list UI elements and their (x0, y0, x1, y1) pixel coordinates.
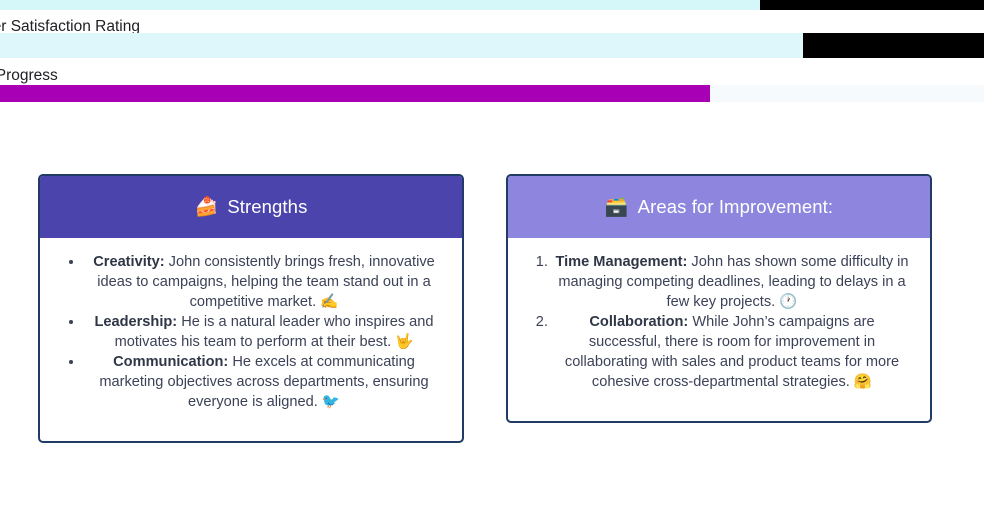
card-file-box-icon: 🗃️ (605, 198, 629, 217)
goal-progress-fill (0, 85, 710, 102)
list-item-term: Time Management: (555, 254, 687, 270)
list-item: Time Management: John has shown some dif… (552, 252, 912, 312)
satisfaction-rating-fill (0, 33, 803, 58)
list-item: Communication: He excels at communicatin… (84, 352, 444, 412)
performance-review-page: ner Satisfaction Rating l Progress 🍰 Str… (0, 0, 984, 505)
list-item-term: Collaboration: (589, 314, 688, 330)
strengths-card: 🍰 Strengths Creativity: John consistentl… (38, 174, 464, 443)
strengths-card-title: Strengths (227, 196, 307, 218)
areas-for-improvement-card-header: 🗃️ Areas for Improvement: (508, 176, 930, 238)
goal-progress-label: l Progress (0, 67, 58, 85)
goal-progress-track (0, 85, 984, 102)
list-item: Leadership: He is a natural leader who i… (84, 312, 444, 352)
review-cards-row: 🍰 Strengths Creativity: John consistentl… (0, 150, 984, 480)
strengths-list: Creativity: John consistently brings fre… (58, 252, 444, 412)
cake-slice-icon: 🍰 (195, 198, 219, 217)
list-item: Collaboration: While John’s campaigns ar… (552, 312, 912, 392)
areas-for-improvement-card-body: Time Management: John has shown some dif… (508, 238, 930, 408)
strengths-card-body: Creativity: John consistently brings fre… (40, 238, 462, 428)
areas-for-improvement-card-title: Areas for Improvement: (638, 196, 834, 218)
list-item-term: Communication: (113, 354, 228, 370)
satisfaction-rating-track (0, 33, 984, 58)
areas-for-improvement-list: Time Management: John has shown some dif… (526, 252, 912, 392)
list-item-term: Leadership: (94, 314, 177, 330)
top-progress-fill (0, 0, 760, 10)
top-progress-track (0, 0, 984, 10)
list-item-term: Creativity: (93, 254, 164, 270)
list-item: Creativity: John consistently brings fre… (84, 252, 444, 312)
areas-for-improvement-card: 🗃️ Areas for Improvement: Time Managemen… (506, 174, 932, 423)
strengths-card-header: 🍰 Strengths (40, 176, 462, 238)
